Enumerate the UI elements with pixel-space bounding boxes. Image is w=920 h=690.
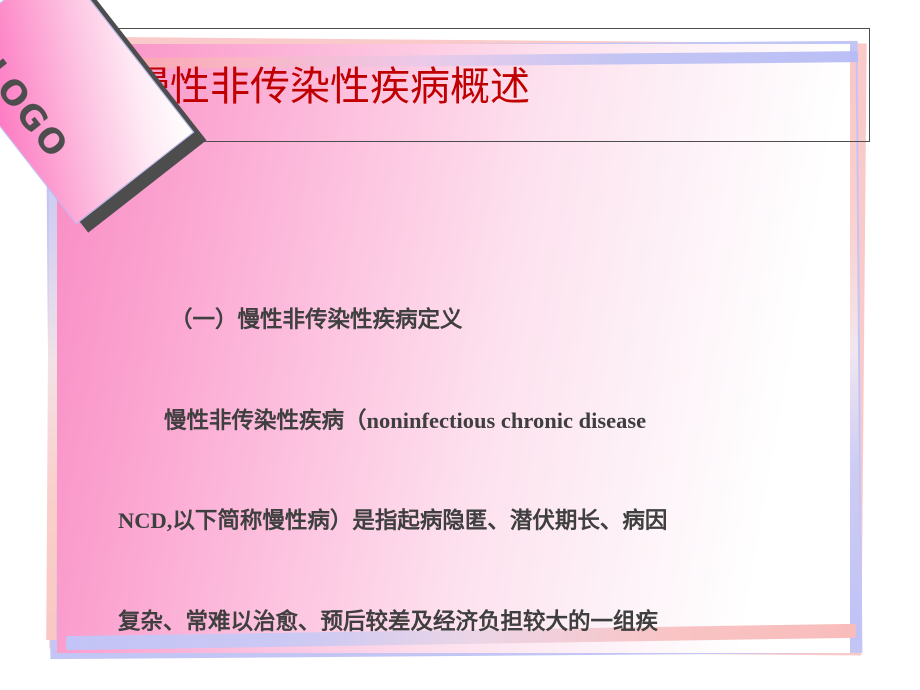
body-line-1: （一）慢性非传染性疾病定义 [118, 303, 708, 337]
slide-body-text: （一）慢性非传染性疾病定义 慢性非传染性疾病（noninfectious chr… [118, 236, 708, 690]
body-line-2: 慢性非传染性疾病（noninfectious chronic disease [118, 404, 708, 438]
logo-graphic[interactable]: LOGO [0, 0, 208, 244]
body-line-4: 复杂、常难以治愈、预后较差及经济负担较大的一组疾 [118, 605, 708, 639]
slide-canvas: （一）慢性非传染性疾病定义 慢性非传染性疾病（noninfectious chr… [0, 0, 920, 690]
body-line-3: NCD,以下简称慢性病）是指起病隐匿、潜伏期长、病因 [118, 504, 708, 538]
